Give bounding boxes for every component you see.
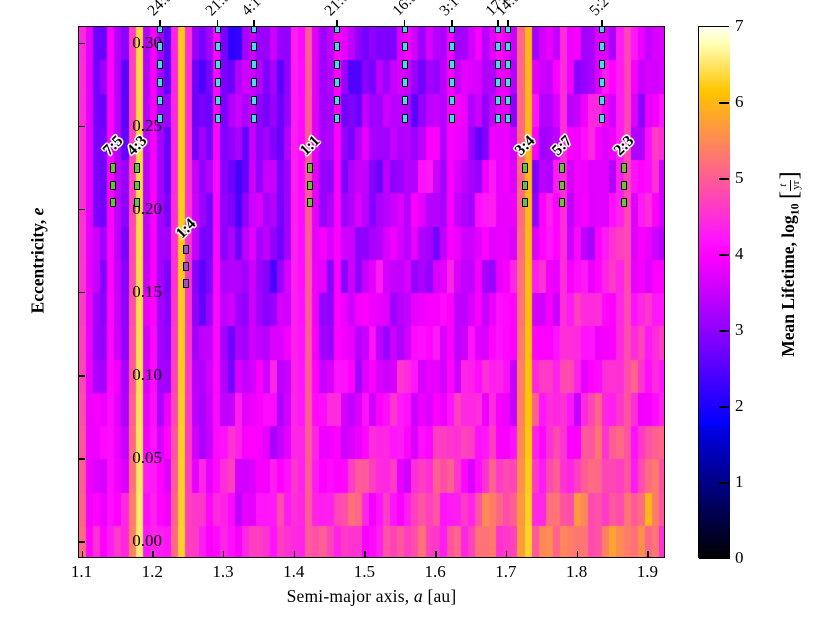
x-tick-label: 1.1 bbox=[71, 562, 92, 582]
resonance-dash-marker-cyan bbox=[449, 26, 455, 33]
y-axis-title: Eccentricity, e bbox=[28, 131, 49, 391]
resonance-dash-marker-cyan bbox=[334, 96, 340, 106]
resonance-dash-marker-green bbox=[522, 163, 528, 172]
x-tick-mark bbox=[152, 551, 153, 558]
colorbar-tick-mark bbox=[719, 178, 729, 180]
top-resonance-label-5-2: 5:2 bbox=[587, 0, 614, 20]
colorbar-tick-label: 2 bbox=[735, 396, 744, 416]
resonance-dash-marker-cyan bbox=[449, 114, 455, 124]
resonance-dash-marker-cyan bbox=[449, 96, 455, 106]
colorbar-tick-mark bbox=[719, 330, 729, 332]
resonance-dash-marker-green bbox=[307, 163, 313, 172]
colorbar-tick-label: 4 bbox=[735, 244, 744, 264]
y-tick-mark bbox=[78, 375, 85, 376]
y-tick-mark bbox=[78, 458, 85, 459]
resonance-dash-marker-cyan bbox=[251, 26, 257, 33]
top-resonance-label-24-5: 24:5 bbox=[145, 0, 177, 20]
resonance-dash-marker-purple bbox=[183, 245, 189, 254]
resonance-dash-marker-cyan bbox=[495, 26, 501, 33]
resonance-dash-marker-green bbox=[559, 181, 565, 190]
colorbar-tick-label: 6 bbox=[735, 92, 744, 112]
bracket-open-icon: [ bbox=[776, 191, 803, 199]
resonance-dash-marker-cyan bbox=[505, 78, 511, 88]
colorbar-tick-label: 3 bbox=[735, 320, 744, 340]
top-resonance-label-21-5: 21:5 bbox=[202, 0, 234, 20]
figure-root: 7:54:31:41:13:45:72:3 1.11.21.31.41.51.6… bbox=[0, 0, 830, 623]
x-tick-mark bbox=[223, 551, 224, 558]
top-tick-mark bbox=[217, 20, 218, 26]
colorbar bbox=[698, 26, 729, 558]
x-tick-mark bbox=[435, 551, 436, 558]
resonance-dash-marker-cyan bbox=[495, 78, 501, 88]
resonance-dash-marker-cyan bbox=[251, 96, 257, 106]
resonance-dash-marker-cyan bbox=[334, 114, 340, 124]
resonance-dash-marker-green bbox=[134, 163, 140, 172]
colorbar-tick-label: 7 bbox=[735, 16, 744, 36]
top-resonance-label-16-5: 16:5 bbox=[389, 0, 421, 20]
resonance-dash-marker-cyan bbox=[449, 60, 455, 70]
y-tick-mark bbox=[78, 43, 85, 44]
resonance-dash-marker-cyan bbox=[251, 114, 257, 124]
x-axis-title-var: a bbox=[414, 586, 423, 606]
x-tick-mark bbox=[577, 551, 578, 558]
resonance-dash-marker-cyan bbox=[157, 26, 163, 33]
resonance-dash-marker-cyan bbox=[495, 60, 501, 70]
colorbar-tick-label: 0 bbox=[735, 548, 744, 568]
resonance-dash-marker-green bbox=[110, 198, 116, 207]
resonance-dash-marker-cyan bbox=[157, 42, 163, 52]
y-tick-label: 0.05 bbox=[132, 448, 162, 468]
top-tick-mark bbox=[507, 20, 508, 26]
x-tick-label: 1.4 bbox=[283, 562, 304, 582]
x-tick-label: 1.7 bbox=[495, 562, 516, 582]
resonance-dash-marker-green bbox=[134, 181, 140, 190]
resonance-dash-marker-cyan bbox=[402, 78, 408, 88]
resonance-dash-marker-cyan bbox=[599, 78, 605, 88]
resonance-dash-marker-cyan bbox=[402, 42, 408, 52]
colorbar-tick-label: 5 bbox=[735, 168, 744, 188]
top-tick-mark bbox=[497, 20, 498, 26]
resonance-dash-marker-cyan bbox=[495, 114, 501, 124]
x-tick-label: 1.2 bbox=[142, 562, 163, 582]
resonance-dash-marker-cyan bbox=[599, 60, 605, 70]
colorbar-title-text: Mean Lifetime, log bbox=[778, 215, 798, 356]
colorbar-gradient bbox=[699, 27, 730, 559]
top-tick-mark bbox=[336, 20, 337, 26]
resonance-dash-marker-cyan bbox=[599, 42, 605, 52]
resonance-dash-marker-cyan bbox=[251, 42, 257, 52]
y-tick-mark bbox=[78, 541, 85, 542]
y-tick-mark bbox=[78, 126, 85, 127]
x-tick-label: 1.8 bbox=[566, 562, 587, 582]
resonance-dash-marker-green bbox=[307, 198, 313, 207]
resonance-dash-marker-cyan bbox=[449, 42, 455, 52]
resonance-dash-marker-green bbox=[621, 198, 627, 207]
resonance-dash-marker-cyan bbox=[215, 26, 221, 33]
resonance-dash-marker-cyan bbox=[505, 60, 511, 70]
colorbar-unit-fraction: tyr bbox=[778, 180, 802, 191]
resonance-dash-marker-green bbox=[110, 181, 116, 190]
colorbar-title-sub: 10 bbox=[788, 203, 802, 215]
colorbar-title: Mean Lifetime, log10 [tyr] bbox=[776, 114, 804, 414]
top-tick-mark bbox=[601, 20, 602, 26]
x-tick-label: 1.6 bbox=[425, 562, 446, 582]
top-resonance-label-4-1: 4:1 bbox=[239, 0, 266, 20]
resonance-dash-marker-green bbox=[134, 198, 140, 207]
y-axis-title-text: Eccentricity, bbox=[28, 220, 48, 314]
top-tick-mark bbox=[404, 20, 405, 26]
resonance-dash-marker-cyan bbox=[215, 114, 221, 124]
resonance-dash-marker-green bbox=[559, 198, 565, 207]
resonance-dash-marker-green bbox=[110, 163, 116, 172]
resonance-dash-marker-cyan bbox=[402, 114, 408, 124]
heatmap-plot-area: 7:54:31:41:13:45:72:3 bbox=[78, 26, 665, 558]
resonance-dash-marker-cyan bbox=[505, 42, 511, 52]
resonance-dash-marker-cyan bbox=[495, 96, 501, 106]
x-tick-mark bbox=[294, 551, 295, 558]
resonance-dash-marker-cyan bbox=[599, 96, 605, 106]
resonance-dash-marker-cyan bbox=[334, 26, 340, 33]
resonance-dash-marker-green bbox=[307, 181, 313, 190]
resonance-dash-marker-cyan bbox=[251, 60, 257, 70]
x-tick-mark bbox=[647, 551, 648, 558]
resonance-dash-marker-cyan bbox=[334, 42, 340, 52]
resonance-dash-marker-cyan bbox=[402, 60, 408, 70]
x-tick-label: 1.5 bbox=[354, 562, 375, 582]
colorbar-unit-numerator: t bbox=[778, 180, 791, 191]
top-tick-mark bbox=[451, 20, 452, 26]
resonance-dash-marker-cyan bbox=[599, 114, 605, 124]
resonance-dash-marker-cyan bbox=[215, 60, 221, 70]
resonance-dash-marker-cyan bbox=[334, 78, 340, 88]
resonance-dash-marker-cyan bbox=[215, 42, 221, 52]
colorbar-tick-mark bbox=[719, 254, 729, 256]
resonance-dash-marker-cyan bbox=[157, 60, 163, 70]
resonance-dash-marker-cyan bbox=[215, 78, 221, 88]
x-axis-title: Semi-major axis, a [au] bbox=[78, 586, 665, 607]
resonance-dash-marker-cyan bbox=[157, 114, 163, 124]
resonance-dash-marker-cyan bbox=[599, 26, 605, 33]
resonance-dash-marker-green bbox=[621, 181, 627, 190]
colorbar-tick-mark bbox=[719, 102, 729, 104]
y-tick-mark bbox=[78, 209, 85, 210]
x-tick-mark bbox=[82, 551, 83, 558]
resonance-dash-marker-cyan bbox=[505, 114, 511, 124]
bracket-close-icon: ] bbox=[776, 171, 803, 179]
resonance-dash-marker-green bbox=[559, 163, 565, 172]
top-tick-mark bbox=[253, 20, 254, 26]
top-tick-mark bbox=[159, 20, 160, 26]
y-tick-label: 0.15 bbox=[132, 282, 162, 302]
y-tick-mark bbox=[78, 292, 85, 293]
resonance-dash-marker-green bbox=[522, 181, 528, 190]
resonance-dash-marker-purple bbox=[183, 262, 189, 271]
resonance-dash-marker-cyan bbox=[402, 26, 408, 33]
top-resonance-label-21-6: 21:6 bbox=[321, 0, 353, 20]
colorbar-tick-label: 1 bbox=[735, 472, 744, 492]
x-tick-mark bbox=[506, 551, 507, 558]
resonance-dash-marker-cyan bbox=[215, 96, 221, 106]
top-resonance-label-3-1: 3:1 bbox=[437, 0, 464, 20]
resonance-dash-marker-cyan bbox=[402, 96, 408, 106]
y-tick-label: 0.00 bbox=[132, 531, 162, 551]
resonance-dash-marker-cyan bbox=[449, 78, 455, 88]
colorbar-unit-denominator: yr bbox=[791, 180, 803, 191]
resonance-dash-marker-cyan bbox=[505, 26, 511, 33]
resonance-dash-marker-cyan bbox=[157, 78, 163, 88]
resonance-dash-marker-cyan bbox=[505, 96, 511, 106]
resonance-dash-marker-cyan bbox=[495, 42, 501, 52]
resonance-dash-marker-cyan bbox=[251, 78, 257, 88]
x-tick-mark bbox=[364, 551, 365, 558]
x-axis-title-text: Semi-major axis, bbox=[287, 586, 410, 606]
resonance-dash-marker-cyan bbox=[334, 60, 340, 70]
colorbar-tick-mark bbox=[719, 406, 729, 408]
resonance-dash-marker-cyan bbox=[157, 96, 163, 106]
y-tick-label: 0.10 bbox=[132, 365, 162, 385]
resonance-dash-marker-green bbox=[621, 163, 627, 172]
x-axis-title-unit: [au] bbox=[427, 586, 456, 606]
resonance-dash-marker-purple bbox=[183, 279, 189, 288]
x-tick-label: 1.9 bbox=[637, 562, 658, 582]
resonance-dash-marker-green bbox=[522, 198, 528, 207]
colorbar-tick-mark bbox=[719, 482, 729, 484]
heatmap-canvas bbox=[79, 27, 665, 558]
x-tick-label: 1.3 bbox=[212, 562, 233, 582]
y-axis-title-var: e bbox=[28, 208, 48, 216]
